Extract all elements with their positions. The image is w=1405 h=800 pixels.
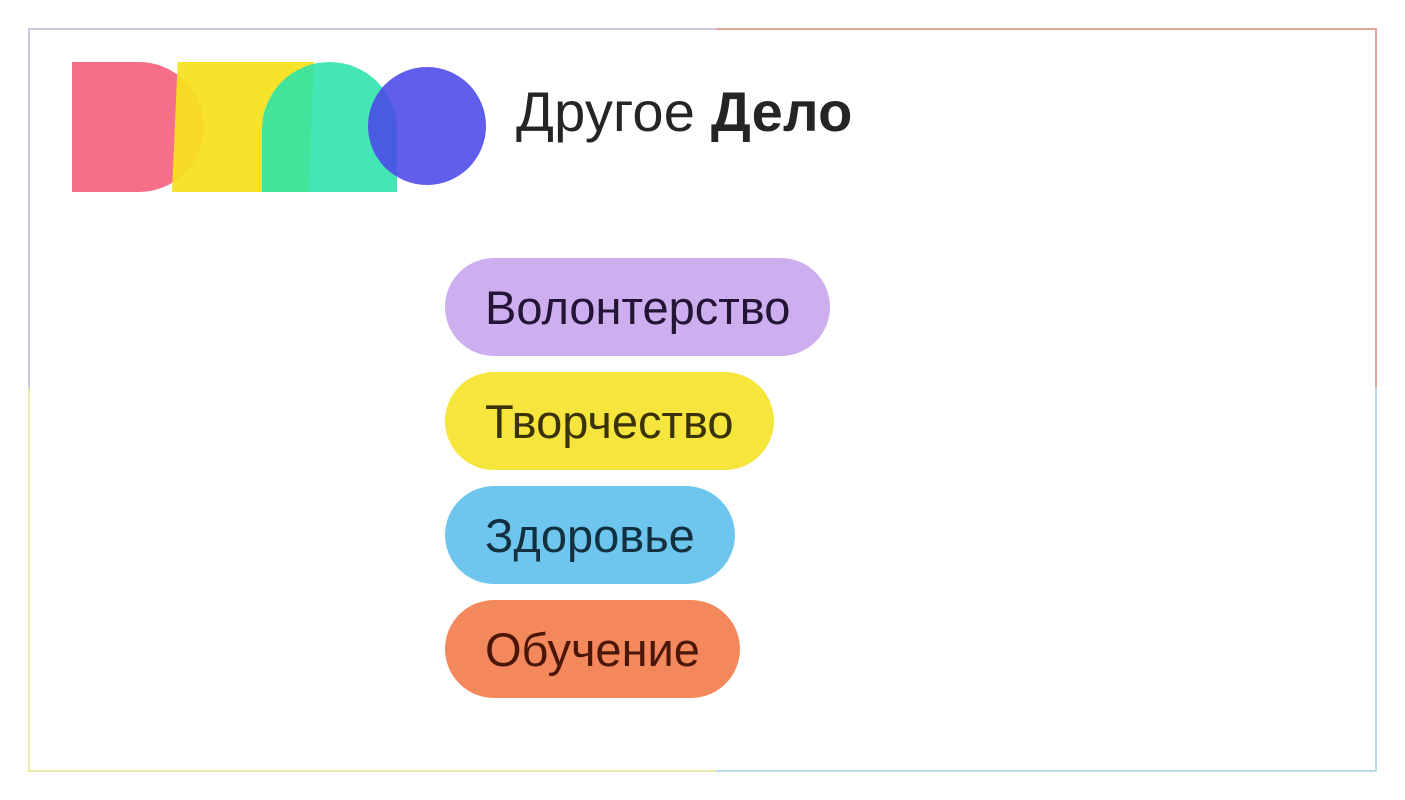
brand-wordmark: Другое Дело — [516, 84, 852, 140]
brand-logo-icon — [72, 62, 482, 192]
category-pill-list: ВолонтерствоТворчествоЗдоровьеОбучение — [445, 258, 830, 698]
category-pill[interactable]: Обучение — [445, 600, 740, 698]
frame-bottom-left-horizontal — [28, 770, 718, 772]
frame-bottom-right-horizontal — [716, 770, 1377, 772]
brand-name-bold: Дело — [711, 80, 853, 143]
brand-name-light: Другое — [516, 80, 695, 143]
frame-top-left-horizontal — [28, 28, 718, 30]
frame-top-right-horizontal — [716, 28, 1377, 30]
slide-canvas: Другое Дело ВолонтерствоТворчествоЗдоров… — [0, 0, 1405, 800]
category-pill[interactable]: Волонтерство — [445, 258, 830, 356]
category-pill[interactable]: Творчество — [445, 372, 774, 470]
frame-bottom-right-vertical — [1375, 388, 1377, 772]
frame-top-left-vertical — [28, 28, 30, 388]
frame-bottom-left-vertical — [28, 388, 30, 772]
frame-top-right-vertical — [1375, 28, 1377, 388]
logo-circle-icon — [368, 67, 486, 185]
category-pill[interactable]: Здоровье — [445, 486, 735, 584]
